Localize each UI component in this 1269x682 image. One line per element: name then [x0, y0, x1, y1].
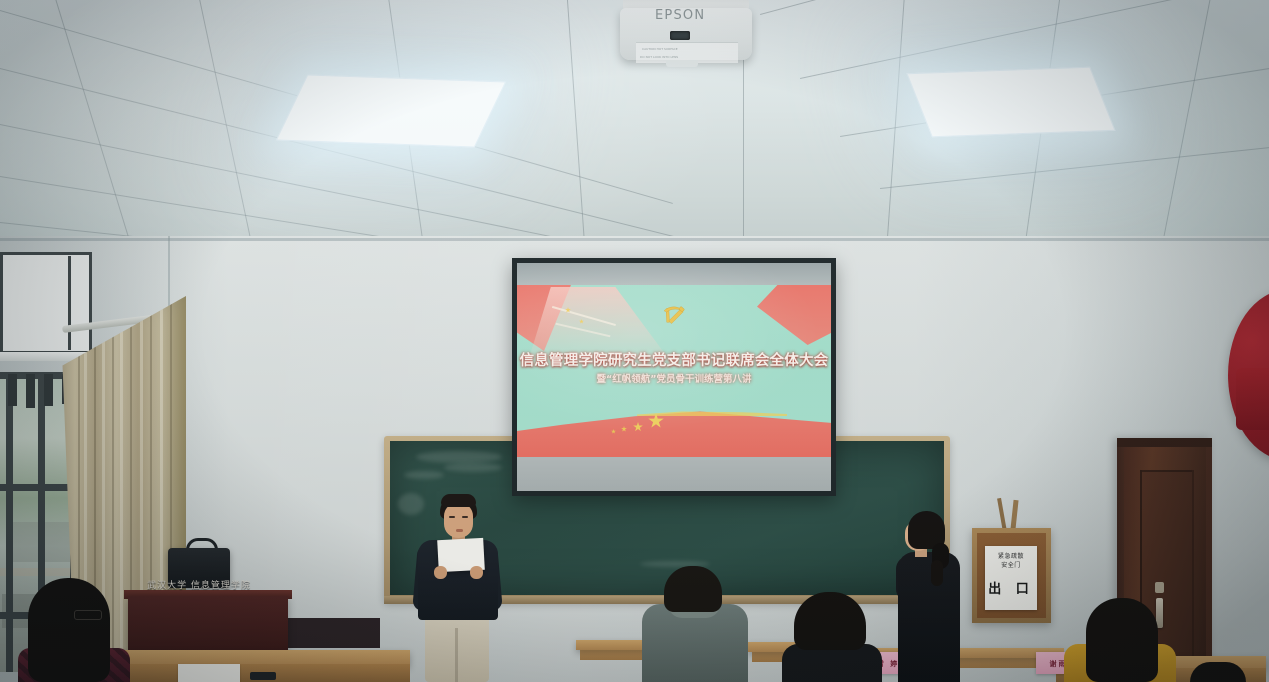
- slide-subtitle: 暨“红帆领航”党员骨干训练营第八讲: [517, 371, 831, 385]
- presenter-fringe: [441, 494, 476, 507]
- exit-sign-main-text: 出 口: [985, 578, 1037, 597]
- audience-5-hair: [1190, 662, 1246, 682]
- slide-title: 信息管理学院研究生党支部书记联席会全体大会: [517, 349, 831, 370]
- projection-screen: 信息管理学院研究生党支部书记联席会全体大会 暨“红帆领航”党员骨干训练营第八讲: [517, 263, 831, 491]
- ccp-hammer-sickle-emblem: [660, 303, 687, 328]
- slide-letterbox-top: [517, 263, 831, 285]
- podium-institution-label: 武汉大学 信息管理学院: [128, 578, 270, 591]
- audience-1-hair: [664, 566, 722, 612]
- standing-woman-dress: [898, 552, 960, 682]
- classroom-photo: EPSON CAUTION HOT SURFACE DO NOT LOOK IN…: [0, 0, 1269, 682]
- presenter-trouser-seam: [455, 628, 458, 682]
- projector-foot: [666, 60, 698, 67]
- exit-sign-line-1: 紧急疏散: [985, 551, 1037, 560]
- slide-bottom-wave: [517, 403, 831, 457]
- audience-4-hair: [1086, 598, 1158, 682]
- audience-3-glasses: [74, 610, 102, 620]
- presenter-hand-left: [434, 566, 447, 579]
- slide-letterbox-bottom: [517, 457, 831, 491]
- projector-lens: [670, 31, 690, 40]
- upper-window-frame: [0, 252, 92, 354]
- presenter-hand-right: [470, 566, 483, 579]
- red-wall-banner: [1236, 368, 1269, 430]
- projector-fine-print-2: DO NOT LOOK INTO LENS: [640, 55, 678, 59]
- ceiling-light-panel-right: [906, 67, 1115, 137]
- desk-phone: [250, 672, 276, 680]
- presentation-slide: 信息管理学院研究生党支部书记联席会全体大会 暨“红帆领航”党员骨干训练营第八讲: [517, 285, 831, 457]
- door-lintel: [1117, 438, 1212, 447]
- upper-window-mullion: [68, 256, 71, 350]
- audience-2-hair: [794, 592, 866, 650]
- slide-mountain-right: [735, 285, 831, 345]
- audience-3-hair: [28, 578, 110, 682]
- projector-brand-label: EPSON: [655, 8, 725, 24]
- projector-fine-print-1: CAUTION HOT SURFACE: [642, 47, 678, 51]
- desk-paper-1: [178, 664, 240, 682]
- presenter-face: [444, 503, 473, 538]
- exit-sign-line-2: 安全门: [985, 560, 1037, 569]
- standing-woman-ponytail: [931, 560, 943, 586]
- door-lock[interactable]: [1155, 582, 1164, 593]
- slide-bottom-wave-gold: [637, 411, 787, 416]
- ceiling-light-panel-left: [276, 74, 506, 147]
- podium: [128, 596, 288, 650]
